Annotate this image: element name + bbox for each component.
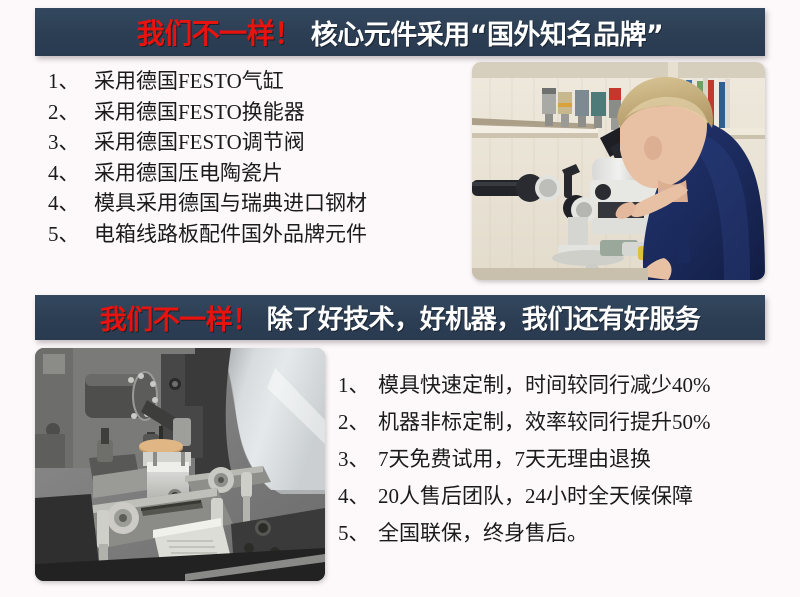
precision-tooling-machine-photo — [35, 348, 325, 581]
list-item-text: 采用德国压电陶瓷片 — [94, 158, 283, 189]
list-item-number: 1、 — [48, 66, 94, 97]
list-item-text: 采用德国FESTO调节阀 — [94, 127, 305, 158]
list-item-number: 5、 — [338, 515, 378, 552]
list-item-number: 2、 — [48, 97, 94, 128]
header-title-text: 核心元件采用“国外知名品牌” — [311, 13, 664, 52]
list-item-number: 4、 — [338, 478, 378, 515]
list-item-number: 3、 — [48, 127, 94, 158]
list-item: 2、 采用德国FESTO换能器 — [48, 97, 458, 128]
technician-microscope-inspection-photo — [472, 62, 765, 280]
list-item: 5、 全国联保，终身售后。 — [338, 515, 788, 552]
list-item-number: 5、 — [48, 219, 94, 250]
core-components-list: 1、 采用德国FESTO气缸 2、 采用德国FESTO换能器 3、 采用德国FE… — [48, 66, 458, 249]
list-item: 1、 采用德国FESTO气缸 — [48, 66, 458, 97]
list-item-number: 2、 — [338, 404, 378, 441]
header-highlight-text: 我们不一样！ — [137, 12, 302, 52]
service-advantages-list: 1、 模具快速定制，时间较同行减少40% 2、 机器非标定制，效率较同行提升50… — [338, 367, 788, 552]
microscope-scene-illustration — [472, 62, 765, 280]
list-item-text: 模具快速定制，时间较同行减少40% — [378, 367, 711, 404]
list-item: 1、 模具快速定制，时间较同行减少40% — [338, 367, 788, 404]
section-header-core-components: 我们不一样！ 核心元件采用“国外知名品牌” — [35, 8, 765, 56]
header-highlight-text: 我们不一样！ — [100, 298, 259, 337]
list-item: 4、 采用德国压电陶瓷片 — [48, 158, 458, 189]
list-item: 3、 采用德国FESTO调节阀 — [48, 127, 458, 158]
list-item-text: 模具采用德国与瑞典进口钢材 — [94, 188, 367, 219]
list-item: 2、 机器非标定制，效率较同行提升50% — [338, 404, 788, 441]
promo-page: 我们不一样！ 核心元件采用“国外知名品牌” 1、 采用德国FESTO气缸 2、 … — [0, 0, 800, 597]
list-item-number: 4、 — [48, 188, 94, 219]
list-item-text: 全国联保，终身售后。 — [378, 515, 588, 552]
list-item-text: 电箱线路板配件国外品牌元件 — [94, 219, 367, 250]
list-item-number: 4、 — [48, 158, 94, 189]
list-item-number: 1、 — [338, 367, 378, 404]
list-item-text: 7天免费试用，7天无理由退换 — [378, 441, 651, 478]
list-item: 4、 模具采用德国与瑞典进口钢材 — [48, 188, 458, 219]
section-header-service-advantages: 我们不一样！ 除了好技术，好机器，我们还有好服务 — [35, 295, 765, 340]
list-item: 4、 20人售后团队，24小时全天候保障 — [338, 478, 788, 515]
list-item-number: 3、 — [338, 441, 378, 478]
header-title-text: 除了好技术，好机器，我们还有好服务 — [267, 299, 701, 336]
list-item-text: 采用德国FESTO气缸 — [94, 66, 284, 97]
list-item: 5、 电箱线路板配件国外品牌元件 — [48, 219, 458, 250]
machine-tooling-illustration — [35, 348, 325, 581]
list-item-text: 20人售后团队，24小时全天候保障 — [378, 478, 693, 515]
list-item-text: 机器非标定制，效率较同行提升50% — [378, 404, 711, 441]
list-item-text: 采用德国FESTO换能器 — [94, 97, 305, 128]
list-item: 3、 7天免费试用，7天无理由退换 — [338, 441, 788, 478]
